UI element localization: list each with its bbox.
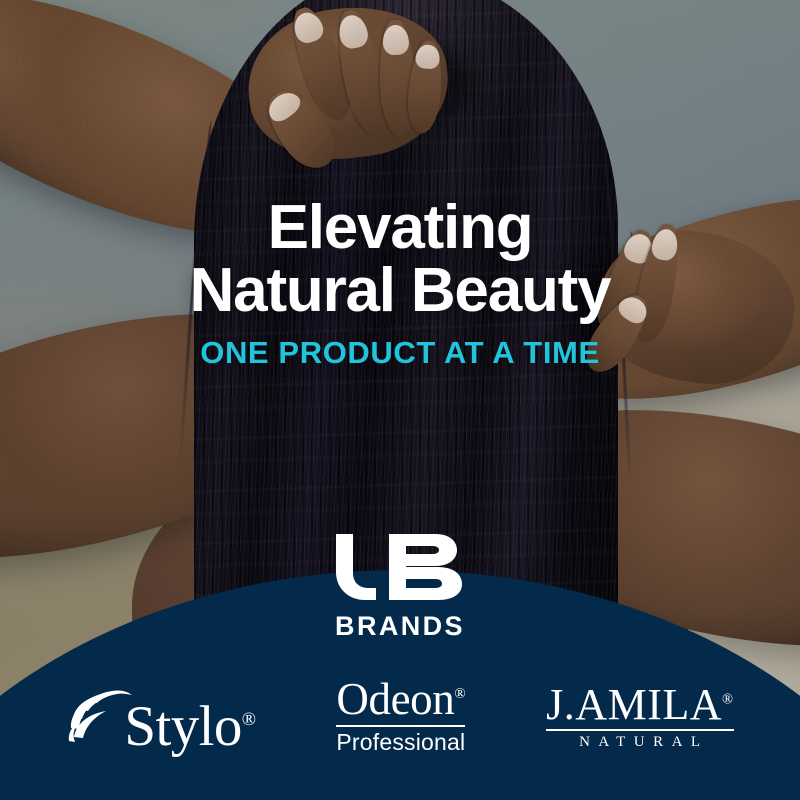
fingernail bbox=[382, 24, 409, 56]
odeon-name: Odeon bbox=[336, 674, 454, 724]
registered-mark: ® bbox=[722, 692, 734, 708]
registered-mark: ® bbox=[242, 709, 256, 730]
jamila-wordmark: J.AMILA® bbox=[546, 683, 733, 727]
fingernail bbox=[415, 44, 440, 70]
stylo-swoosh-icon bbox=[66, 683, 132, 745]
divider-rule bbox=[546, 729, 733, 731]
subheadline: ONE PRODUCT AT A TIME bbox=[0, 335, 800, 371]
parent-brand-wordmark: BRANDS bbox=[0, 611, 800, 642]
odeon-wordmark: Odeon® bbox=[336, 677, 465, 722]
subject-left-hand bbox=[240, 0, 457, 170]
brand-logo-stylo[interactable]: Stylo® bbox=[66, 683, 255, 751]
jamila-tagline: NATURAL bbox=[546, 734, 733, 751]
brand-logo-odeon[interactable]: Odeon® Professional bbox=[336, 677, 465, 756]
divider-rule bbox=[336, 725, 465, 727]
page-title: Elevating Natural Beauty bbox=[0, 196, 800, 322]
brand-logo-row: Stylo® Odeon® Professional J.AMILA® NATU… bbox=[0, 662, 800, 772]
stylo-wordmark: Stylo® bbox=[124, 702, 255, 751]
ad-creative: Elevating Natural Beauty ONE PRODUCT AT … bbox=[0, 0, 800, 800]
headline-line-1: Elevating bbox=[268, 193, 533, 262]
jamila-name: J.AMILA bbox=[546, 680, 722, 729]
registered-mark: ® bbox=[454, 686, 465, 702]
stylo-name: Stylo bbox=[124, 695, 241, 758]
ub-monogram-icon bbox=[334, 534, 466, 605]
headline-block: Elevating Natural Beauty ONE PRODUCT AT … bbox=[0, 196, 800, 371]
odeon-tagline: Professional bbox=[336, 729, 465, 756]
brand-logo-jamila[interactable]: J.AMILA® NATURAL bbox=[546, 683, 733, 751]
parent-brand-lockup[interactable]: BRANDS bbox=[0, 534, 800, 642]
headline-line-2: Natural Beauty bbox=[0, 259, 800, 322]
